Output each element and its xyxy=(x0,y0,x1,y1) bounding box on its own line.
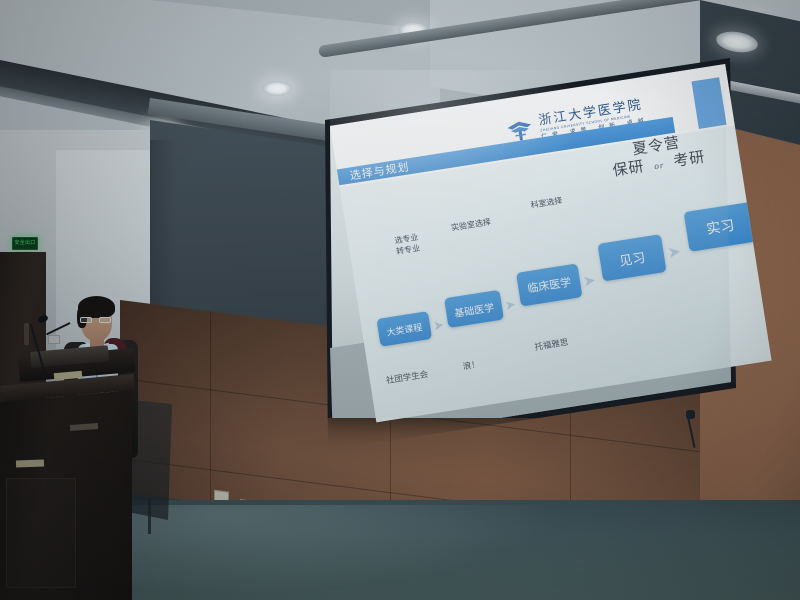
downlight-icon xyxy=(262,81,292,96)
footnote: 托福雅思 xyxy=(534,336,569,353)
flow-step-box: 基础医学 xyxy=(444,290,504,328)
flow-step-box: 实习 xyxy=(684,202,757,252)
camp-right-label: 考研 xyxy=(672,147,706,170)
glasses-icon xyxy=(80,317,113,323)
wall-switch-plate[interactable] xyxy=(48,335,60,344)
podium-cabinet-door[interactable] xyxy=(6,478,76,588)
mini-label: 选专业 转专业 xyxy=(394,232,421,257)
flow-arrow-icon: ➤ xyxy=(432,319,445,334)
door-handle[interactable] xyxy=(24,323,29,345)
flow-step-box: 见习 xyxy=(597,234,666,281)
exit-sign: 安全出口 xyxy=(12,237,38,250)
flow-arrow-icon: ➤ xyxy=(667,243,683,261)
camp-left-label: 保研 xyxy=(611,157,645,180)
glasses-lens-right xyxy=(99,317,111,323)
mini-label: 实验室选择 xyxy=(450,216,491,233)
flow-arrow-icon: ➤ xyxy=(504,298,517,313)
lecture-hall-photo: 安全出口 xyxy=(0,0,800,600)
footnote: 社团学生会 xyxy=(385,368,429,386)
flow-step-box: 临床医学 xyxy=(516,263,583,306)
flow-arrow-icon: ➤ xyxy=(582,273,597,290)
camp-or-label: or xyxy=(650,159,669,172)
podium-nameplate xyxy=(16,460,44,468)
flow-step-box: 大类课程 xyxy=(376,311,432,347)
projected-slide: 浙江大学医学院 ZHEJIANG UNIVERSITY SCHOOL OF ME… xyxy=(316,58,736,418)
mini-label: 科室选择 xyxy=(530,195,563,211)
footnote: 浪！ xyxy=(462,358,481,372)
exit-sign-label: 安全出口 xyxy=(14,241,35,246)
glasses-lens-left xyxy=(80,317,92,323)
